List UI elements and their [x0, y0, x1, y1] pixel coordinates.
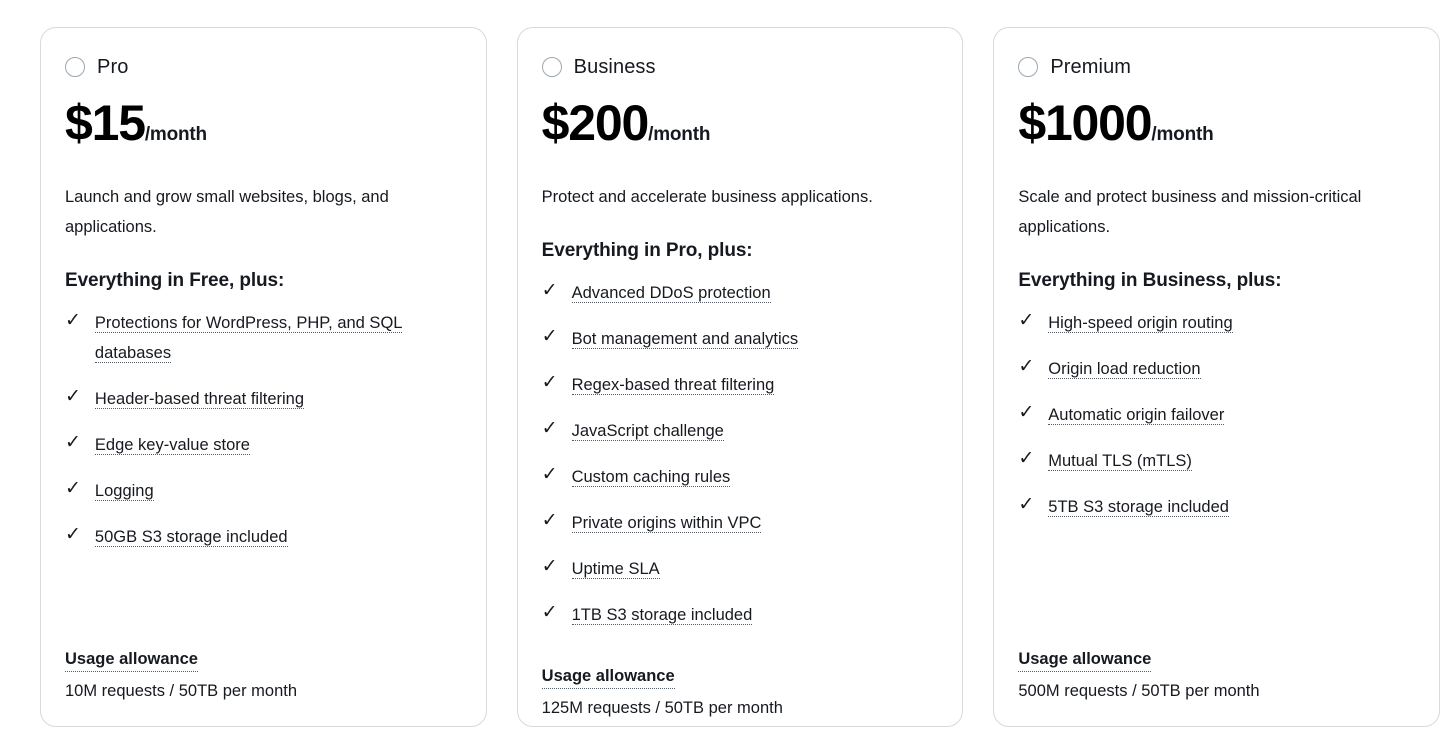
list-item[interactable]: ✓ Uptime SLA [542, 554, 939, 584]
usage-allowance-title[interactable]: Usage allowance [542, 664, 675, 689]
feature-text-wrap: Logging [95, 476, 154, 506]
plan-description: Launch and grow small websites, blogs, a… [65, 182, 445, 242]
check-icon: ✓ [65, 476, 81, 502]
spacer [1018, 538, 1415, 647]
list-item[interactable]: ✓ Header-based threat filtering [65, 384, 462, 414]
plan-card-business[interactable]: Business $200 /month Protect and acceler… [517, 27, 964, 727]
feature-label[interactable]: Edge key-value store [95, 436, 250, 455]
spacer [65, 568, 462, 647]
feature-text-wrap: JavaScript challenge [572, 416, 724, 446]
spacer [542, 646, 939, 664]
check-icon: ✓ [1018, 492, 1034, 518]
plan-description: Scale and protect business and mission-c… [1018, 182, 1398, 242]
feature-text-wrap: Edge key-value store [95, 430, 250, 460]
plan-header[interactable]: Pro [65, 54, 462, 80]
list-item[interactable]: ✓ 1TB S3 storage included [542, 600, 939, 630]
feature-label[interactable]: Bot management and analytics [572, 330, 799, 349]
feature-label[interactable]: Uptime SLA [572, 560, 660, 579]
feature-label[interactable]: 1TB S3 storage included [572, 606, 753, 625]
plan-card-premium[interactable]: Premium $1000 /month Scale and protect b… [993, 27, 1440, 727]
price-amount: $1000 [1018, 94, 1151, 152]
feature-label[interactable]: 50GB S3 storage included [95, 528, 288, 547]
list-item[interactable]: ✓ Automatic origin failover [1018, 400, 1415, 430]
check-icon: ✓ [65, 308, 81, 334]
feature-label[interactable]: Mutual TLS (mTLS) [1048, 452, 1192, 471]
price-period: /month [145, 123, 207, 147]
check-icon: ✓ [65, 384, 81, 410]
features-list: ✓ Advanced DDoS protection ✓ Bot managem… [542, 278, 939, 646]
check-icon: ✓ [542, 554, 558, 580]
usage-allowance-block: Usage allowance 10M requests / 50TB per … [65, 647, 462, 704]
plan-name: Pro [97, 54, 128, 80]
radio-unselected-icon[interactable] [542, 57, 562, 77]
feature-label[interactable]: Protections for WordPress, PHP, and SQL … [95, 314, 403, 363]
plan-description: Protect and accelerate business applicat… [542, 182, 922, 212]
plan-header[interactable]: Business [542, 54, 939, 80]
features-list: ✓ Protections for WordPress, PHP, and SQ… [65, 308, 462, 568]
check-icon: ✓ [1018, 400, 1034, 426]
check-icon: ✓ [542, 508, 558, 534]
list-item[interactable]: ✓ Regex-based threat filtering [542, 370, 939, 400]
feature-label[interactable]: Logging [95, 482, 154, 501]
check-icon: ✓ [1018, 354, 1034, 380]
list-item[interactable]: ✓ Edge key-value store [65, 430, 462, 460]
feature-text-wrap: Protections for WordPress, PHP, and SQL … [95, 308, 455, 368]
feature-label[interactable]: Custom caching rules [572, 468, 731, 487]
plan-header[interactable]: Premium [1018, 54, 1415, 80]
feature-label[interactable]: Private origins within VPC [572, 514, 762, 533]
plan-name: Business [574, 54, 656, 80]
feature-label[interactable]: Regex-based threat filtering [572, 376, 775, 395]
list-item[interactable]: ✓ Protections for WordPress, PHP, and SQ… [65, 308, 462, 368]
list-item[interactable]: ✓ 5TB S3 storage included [1018, 492, 1415, 522]
list-item[interactable]: ✓ Custom caching rules [542, 462, 939, 492]
feature-text-wrap: 5TB S3 storage included [1048, 492, 1229, 522]
usage-allowance-value: 500M requests / 50TB per month [1018, 678, 1415, 704]
list-item[interactable]: ✓ JavaScript challenge [542, 416, 939, 446]
feature-label[interactable]: High-speed origin routing [1048, 314, 1232, 333]
check-icon: ✓ [542, 462, 558, 488]
price-amount: $15 [65, 94, 145, 152]
price-amount: $200 [542, 94, 648, 152]
usage-allowance-block: Usage allowance 125M requests / 50TB per… [542, 664, 939, 721]
check-icon: ✓ [542, 600, 558, 626]
feature-label[interactable]: Origin load reduction [1048, 360, 1200, 379]
list-item[interactable]: ✓ Mutual TLS (mTLS) [1018, 446, 1415, 476]
list-item[interactable]: ✓ High-speed origin routing [1018, 308, 1415, 338]
usage-allowance-block: Usage allowance 500M requests / 50TB per… [1018, 647, 1415, 704]
radio-unselected-icon[interactable] [65, 57, 85, 77]
plan-card-pro[interactable]: Pro $15 /month Launch and grow small web… [40, 27, 487, 727]
check-icon: ✓ [542, 416, 558, 442]
check-icon: ✓ [542, 370, 558, 396]
usage-allowance-value: 125M requests / 50TB per month [542, 695, 939, 721]
feature-label[interactable]: Advanced DDoS protection [572, 284, 771, 303]
check-icon: ✓ [542, 324, 558, 350]
feature-text-wrap: Private origins within VPC [572, 508, 762, 538]
price-period: /month [648, 123, 710, 147]
feature-text-wrap: Regex-based threat filtering [572, 370, 775, 400]
plan-price: $200 /month [542, 94, 939, 152]
feature-label[interactable]: Header-based threat filtering [95, 390, 304, 409]
feature-label[interactable]: Automatic origin failover [1048, 406, 1224, 425]
feature-label[interactable]: JavaScript challenge [572, 422, 724, 441]
feature-text-wrap: Uptime SLA [572, 554, 660, 584]
check-icon: ✓ [65, 522, 81, 548]
usage-allowance-title[interactable]: Usage allowance [65, 647, 198, 672]
check-icon: ✓ [542, 278, 558, 304]
list-item[interactable]: ✓ Logging [65, 476, 462, 506]
check-icon: ✓ [1018, 308, 1034, 334]
list-item[interactable]: ✓ 50GB S3 storage included [65, 522, 462, 552]
usage-allowance-title[interactable]: Usage allowance [1018, 647, 1151, 672]
features-title: Everything in Free, plus: [65, 268, 462, 294]
plan-price: $1000 /month [1018, 94, 1415, 152]
plan-name: Premium [1050, 54, 1131, 80]
list-item[interactable]: ✓ Bot management and analytics [542, 324, 939, 354]
feature-text-wrap: High-speed origin routing [1048, 308, 1232, 338]
check-icon: ✓ [65, 430, 81, 456]
feature-text-wrap: Automatic origin failover [1048, 400, 1224, 430]
list-item[interactable]: ✓ Advanced DDoS protection [542, 278, 939, 308]
feature-text-wrap: Custom caching rules [572, 462, 731, 492]
feature-text-wrap: Advanced DDoS protection [572, 278, 771, 308]
list-item[interactable]: ✓ Origin load reduction [1018, 354, 1415, 384]
feature-text-wrap: 1TB S3 storage included [572, 600, 753, 630]
usage-allowance-value: 10M requests / 50TB per month [65, 678, 462, 704]
check-icon: ✓ [1018, 446, 1034, 472]
features-title: Everything in Business, plus: [1018, 268, 1415, 294]
feature-text-wrap: 50GB S3 storage included [95, 522, 288, 552]
feature-text-wrap: Header-based threat filtering [95, 384, 304, 414]
features-list: ✓ High-speed origin routing ✓ Origin loa… [1018, 308, 1415, 538]
features-title: Everything in Pro, plus: [542, 238, 939, 264]
feature-text-wrap: Origin load reduction [1048, 354, 1200, 384]
plan-price: $15 /month [65, 94, 462, 152]
list-item[interactable]: ✓ Private origins within VPC [542, 508, 939, 538]
price-period: /month [1151, 123, 1213, 147]
feature-text-wrap: Mutual TLS (mTLS) [1048, 446, 1192, 476]
feature-label[interactable]: 5TB S3 storage included [1048, 498, 1229, 517]
feature-text-wrap: Bot management and analytics [572, 324, 799, 354]
pricing-plan-grid: Pro $15 /month Launch and grow small web… [0, 0, 1456, 754]
radio-unselected-icon[interactable] [1018, 57, 1038, 77]
